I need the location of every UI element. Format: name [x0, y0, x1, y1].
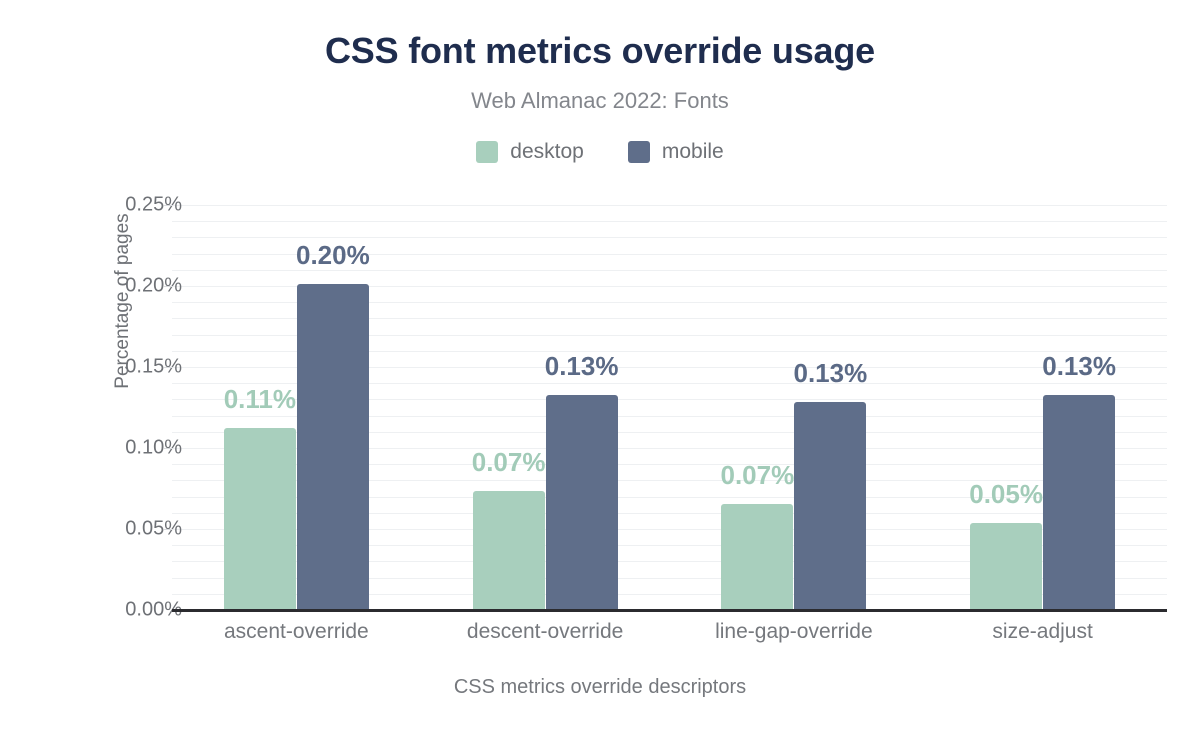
- bar-desktop-ascent-override[interactable]: [224, 428, 296, 610]
- gridline: [172, 205, 1167, 206]
- bar-mobile-descent-override[interactable]: [546, 395, 618, 610]
- bar-desktop-descent-override[interactable]: [473, 491, 545, 610]
- bar-value-label: 0.13%: [482, 351, 682, 382]
- gridline: [172, 237, 1167, 238]
- y-tick-mark: [164, 529, 173, 530]
- bar-desktop-line-gap-override[interactable]: [721, 504, 793, 610]
- y-tick-label: 0.05%: [32, 518, 182, 541]
- bar-value-label: 0.13%: [979, 351, 1179, 382]
- y-tick-label: 0.20%: [32, 275, 182, 298]
- legend-label-mobile: mobile: [662, 140, 724, 164]
- y-tick-mark: [164, 367, 173, 368]
- y-tick-mark: [164, 286, 173, 287]
- bar-mobile-line-gap-override[interactable]: [794, 402, 866, 610]
- x-axis-title: CSS metrics override descriptors: [0, 676, 1200, 699]
- y-tick-label: 0.15%: [32, 356, 182, 379]
- legend-item-mobile[interactable]: mobile: [628, 140, 724, 164]
- legend-label-desktop: desktop: [510, 140, 584, 164]
- y-tick-label: 0.10%: [32, 437, 182, 460]
- x-axis-line: [172, 609, 1167, 612]
- y-tick-mark: [164, 205, 173, 206]
- legend-item-desktop[interactable]: desktop: [476, 140, 584, 164]
- legend-swatch-desktop-icon: [476, 141, 498, 163]
- bar-value-label: 0.20%: [233, 240, 433, 271]
- chart-title: CSS font metrics override usage: [0, 30, 1200, 72]
- y-tick-label: 0.25%: [32, 194, 182, 217]
- y-tick-mark: [164, 448, 173, 449]
- bar-mobile-size-adjust[interactable]: [1043, 395, 1115, 610]
- chart-container: CSS font metrics override usage Web Alma…: [0, 0, 1200, 742]
- chart-subtitle: Web Almanac 2022: Fonts: [0, 88, 1200, 114]
- bar-desktop-size-adjust[interactable]: [970, 523, 1042, 610]
- chart-legend: desktop mobile: [0, 140, 1200, 164]
- x-tick-label-size-adjust: size-adjust: [893, 620, 1193, 644]
- bar-value-label: 0.13%: [730, 358, 930, 389]
- legend-swatch-mobile-icon: [628, 141, 650, 163]
- plot-area: 0.11%0.20%0.07%0.13%0.07%0.13%0.05%0.13%: [172, 205, 1167, 610]
- y-tick-label: 0.00%: [32, 599, 182, 622]
- bar-mobile-ascent-override[interactable]: [297, 284, 369, 610]
- gridline: [172, 221, 1167, 222]
